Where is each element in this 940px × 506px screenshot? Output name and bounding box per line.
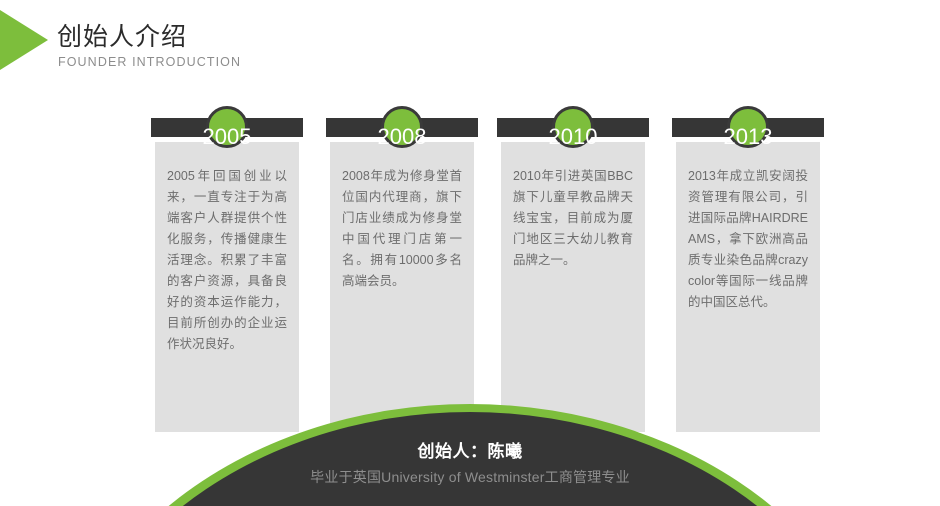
founder-name: 创始人：陈曦 [0,440,940,464]
timeline-card-2010[interactable]: 2010年引进英国BBC旗下儿童早教品牌天线宝宝，目前成为厦门地区三大幼儿教育品… [497,118,649,418]
card-description: 2008年成为修身堂首位国内代理商，旗下门店业绩成为修身堂中国代理门店第一名。拥… [342,166,462,292]
card-description: 2013年成立凯安阔投资管理有限公司，引进国际品牌HAIRDREAMS，拿下欧洲… [688,166,808,313]
year-label: 2005 [203,125,252,149]
timeline-card-2013[interactable]: 2013年成立凯安阔投资管理有限公司，引进国际品牌HAIRDREAMS，拿下欧洲… [672,118,824,418]
card-description: 2005年回国创业以来，一直专注于为高端客户人群提供个性化服务，传播健康生活理念… [167,166,287,355]
timeline-card-2005[interactable]: 2005年回国创业以来，一直专注于为高端客户人群提供个性化服务，传播健康生活理念… [151,118,303,418]
slide-root: 创始人介绍 FOUNDER INTRODUCTION 2005年回国创业以来，一… [0,0,940,506]
footer-text-group: 创始人：陈曦 毕业于英国University of Westminster工商管… [0,440,940,488]
timeline-card-2008[interactable]: 2008年成为修身堂首位国内代理商，旗下门店业绩成为修身堂中国代理门店第一名。拥… [326,118,478,418]
year-label: 2010 [549,125,598,149]
year-label: 2008 [378,125,427,149]
year-label: 2013 [724,125,773,149]
timeline-cards: 2005年回国创业以来，一直专注于为高端客户人群提供个性化服务，传播健康生活理念… [0,0,940,440]
card-description: 2010年引进英国BBC旗下儿童早教品牌天线宝宝，目前成为厦门地区三大幼儿教育品… [513,166,633,271]
founder-education: 毕业于英国University of Westminster工商管理专业 [0,466,940,488]
footer-arc-banner: 创始人：陈曦 毕业于英国University of Westminster工商管… [0,386,940,506]
